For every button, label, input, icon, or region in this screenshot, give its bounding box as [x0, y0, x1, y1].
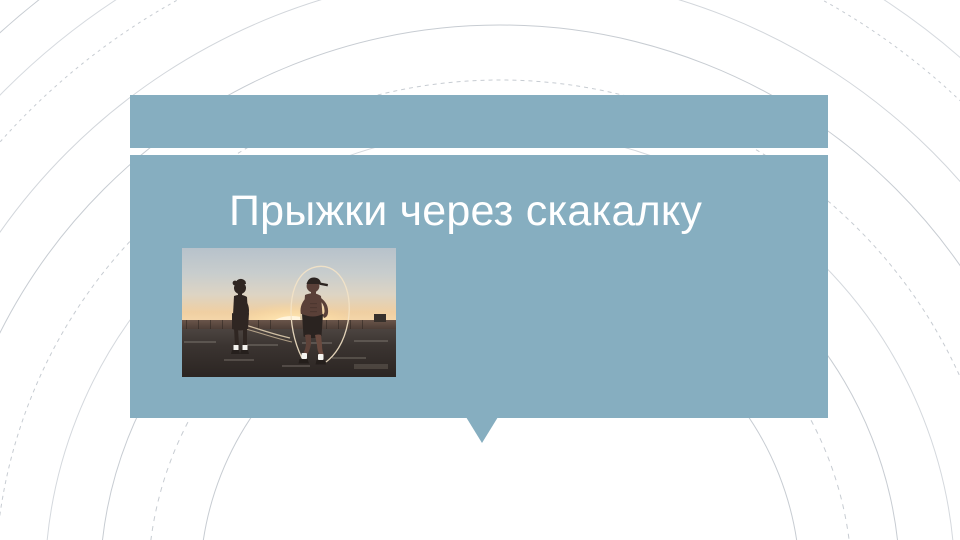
- slide-canvas: Прыжки через скакалку: [0, 0, 960, 540]
- page-title: Прыжки через скакалку: [229, 188, 749, 234]
- triangle-down-icon: [466, 417, 498, 443]
- banner-top-bar: [130, 95, 828, 148]
- photo-icon: [182, 248, 396, 377]
